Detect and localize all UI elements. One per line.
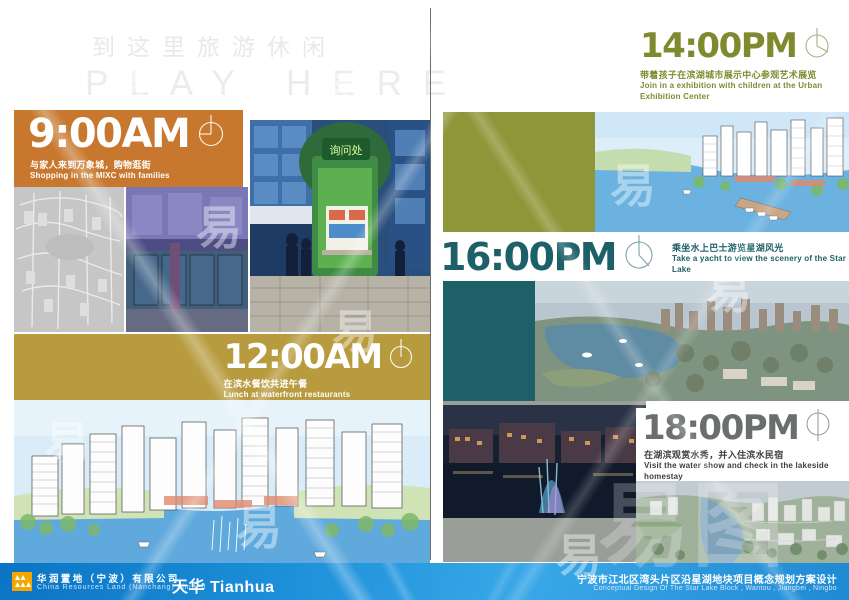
developer-name-en: China Resources Land (Nanchang) Limited [37,584,206,591]
timeline-block-12am: 12:00AM 在滨水餐饮共进午餐 Lunch at waterfront re… [14,334,430,400]
time-label-9am: 9:00AM [28,114,189,154]
rendering-lakeside-homestay [636,481,849,563]
header-title-en: PLAY HERE [85,64,467,104]
svg-text:询问处: 询问处 [330,144,363,157]
caption-16pm: 乘坐水上巴士游览星湖风光 Take a yacht to view the sc… [672,242,849,276]
clock-icon-12am [386,338,416,375]
caption-9am: 与家人来到万象城，购物逛街 Shopping in the MIXC with … [30,159,243,182]
caption-9am-cn: 与家人来到万象城，购物逛街 [30,159,243,171]
clock-icon-9am [194,113,228,152]
presentation-board: 到这里旅游休闲 PLAY HERE 9:00AM 与家人来到万象城，购物逛街 S… [0,0,849,600]
photo-site-plan [14,187,124,332]
watermark-site: yitu.cn [49,1,94,16]
caption-14pm-cn: 带着孩子在滨湖城市展示中心参观艺术展览 [640,69,849,81]
caption-12am-cn: 在滨水餐饮共进午餐 [224,378,416,390]
designer-name: 天华 Tianhua [172,573,275,597]
photo-lake-aerial [535,281,849,401]
caption-16pm-cn: 乘坐水上巴士游览星湖风光 [672,242,849,254]
board-header: 到这里旅游休闲 PLAY HERE [0,24,430,96]
photo-street-kiosk: 询问处 [250,120,430,332]
time-label-14pm: 14:00PM [640,29,796,63]
header-title-cn: 到这里旅游休闲 [92,28,337,62]
caption-18pm-cn: 在湖滨观赏水秀，并入住滨水民宿 [644,449,849,461]
caption-12am: 在滨水餐饮共进午餐 Lunch at waterfront restaurant… [224,378,416,401]
watermark-site: yitu.cn [147,1,192,16]
rendering-waterfront-aerial-sketch [595,112,849,232]
project-title-cn: 宁波市江北区湾头片区沿星湖地块项目概念规划方案设计 [577,571,837,586]
panel-divider [430,8,431,560]
clock-icon-16pm [621,234,657,279]
time-label-12am: 12:00AM [224,340,382,374]
project-title-en: Conceptual Design Of The Star Lake Block… [593,585,837,592]
time-label-18pm: 18:00PM [642,411,798,445]
watermark-site: yitu.cn [0,1,45,16]
watermark-glyph: 易 [540,54,588,120]
time-label-16pm: 16:00PM [440,238,616,276]
color-block-olive [443,112,595,232]
timeline-block-9am: 9:00AM 与家人来到万象城，购物逛街 Shopping in the MIX… [14,110,243,187]
watermark-site: yitu.cn [98,1,143,16]
clock-icon-14pm [801,26,833,65]
photo-mall-interior [126,187,248,332]
caption-14pm: 带着孩子在滨湖城市展示中心参观艺术展览 Join in a exhibition… [640,69,849,103]
clock-icon-18pm [803,408,833,447]
caption-9am-en: Shopping in the MIXC with families [30,171,243,182]
caption-18pm-en: Visit the water show and check in the la… [644,461,849,483]
timeline-block-18pm: 18:00PM 在湖滨观赏水秀，并入住滨水民宿 Visit the water … [636,408,849,481]
timeline-block-14pm: 14:00PM 带着孩子在滨湖城市展示中心参观艺术展览 Join in a ex… [640,26,849,98]
photo-water-show [443,405,646,518]
board-footer: 华润置地（宁波）有限公司 China Resources Land (Nanch… [0,563,849,600]
caption-18pm: 在湖滨观赏水秀，并入住滨水民宿 Visit the water show and… [644,449,849,483]
rendering-waterfront-sketch [14,400,430,563]
caption-14pm-en: Join in a exhibition with children at th… [640,81,849,103]
crland-logo-icon [12,572,32,591]
caption-16pm-en: Take a yacht to view the scenery of the … [672,254,849,276]
timeline-block-16pm: 16:00PM 乘坐水上巴士游览星湖风光 Take a yacht to vie… [440,234,849,278]
developer-name-cn: 华润置地（宁波）有限公司 [37,571,180,585]
